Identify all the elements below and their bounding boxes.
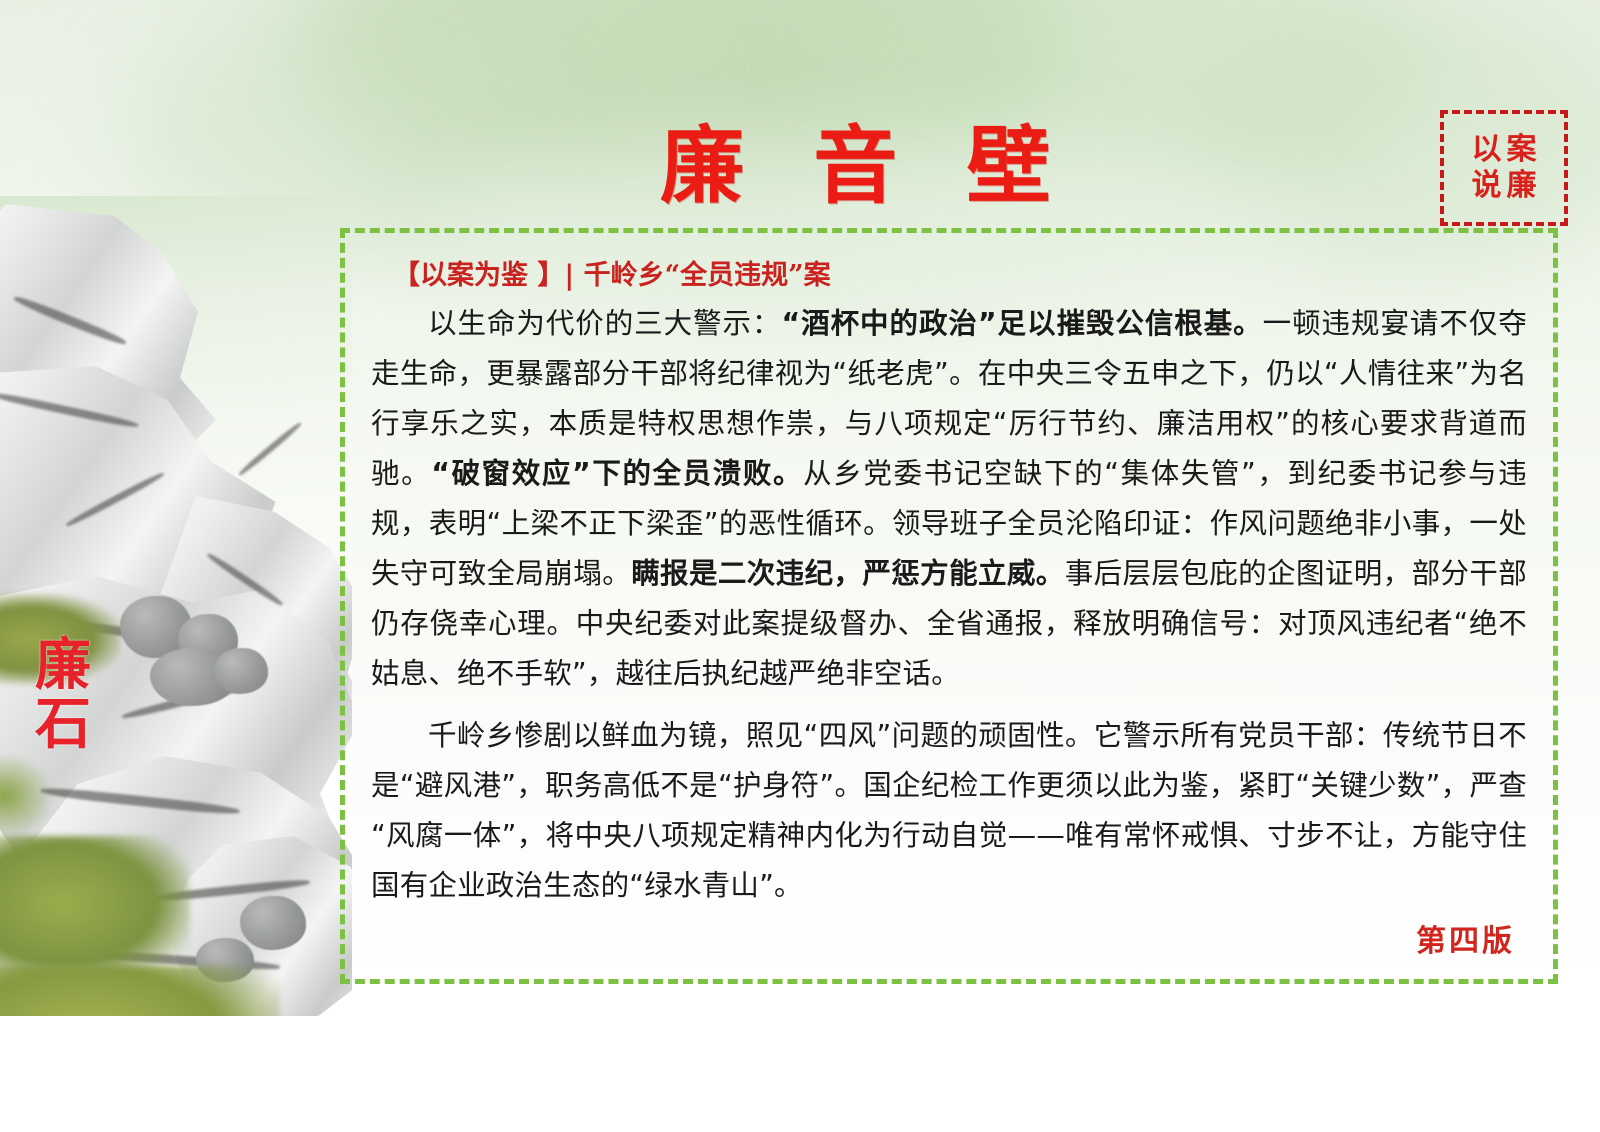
masthead-title: 廉 音 壁 (640, 124, 1060, 208)
boulder (214, 648, 268, 694)
article-heading: 【以案为鉴 】| 千岭乡“全员违规”案 (393, 259, 1527, 293)
rock-caption-char-1: 廉 (24, 636, 102, 695)
status-badge: 以案 说廉 (1440, 110, 1568, 226)
para1-bold-1: “酒杯中的政治”足以摧毁公信根基。 (781, 307, 1262, 340)
article-paragraph-1: 以生命为代价的三大警示：“酒杯中的政治”足以摧毁公信根基。一顿违规宴请不仅夺走生… (371, 299, 1527, 699)
poster-canvas: 廉 石 廉 音 壁 以案 说廉 【以案为鉴 】| 千岭乡“全员违规”案 以生命为… (0, 0, 1600, 1132)
boulder (240, 896, 306, 950)
para1-bold-2: “破窗效应”下的全员溃败。 (431, 457, 803, 490)
article-frame: 【以案为鉴 】| 千岭乡“全员违规”案 以生命为代价的三大警示：“酒杯中的政治”… (340, 228, 1558, 984)
rock-caption: 廉 石 (24, 636, 102, 755)
para1-segment-plain-1: 以生命为代价的三大警示： (428, 307, 781, 340)
para1-bold-3: 瞒报是二次违纪，严惩方能立威。 (631, 557, 1065, 590)
article-paragraph-2: 千岭乡惨剧以鲜血为镜，照见“四风”问题的顽固性。它警示所有党员干部：传统节日不是… (371, 711, 1527, 911)
badge-line-1: 以案 (1467, 135, 1542, 165)
rock-photo: 廉 石 (0, 196, 352, 1016)
moss-vegetation (0, 836, 190, 986)
badge-line-2: 说廉 (1467, 171, 1542, 201)
moss-vegetation (0, 756, 50, 836)
rock-caption-char-2: 石 (24, 695, 102, 754)
edition-stamp: 第四版 (1416, 927, 1515, 957)
moss-vegetation (0, 966, 280, 1016)
